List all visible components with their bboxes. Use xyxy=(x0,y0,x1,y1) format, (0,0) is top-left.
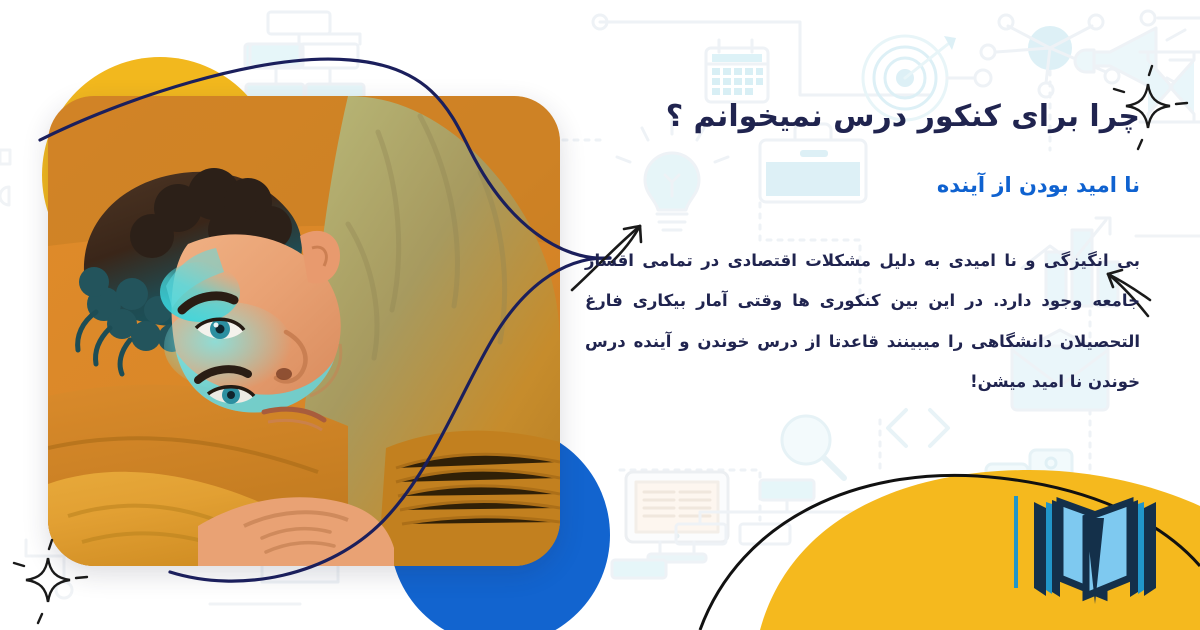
logo-block xyxy=(0,0,1200,630)
open-book-icon xyxy=(1034,500,1156,604)
logo-divider xyxy=(1014,496,1018,588)
banner-canvas: چرا برای کنکور درس نمیخوانم ؟ نا امید بو… xyxy=(0,0,1200,630)
